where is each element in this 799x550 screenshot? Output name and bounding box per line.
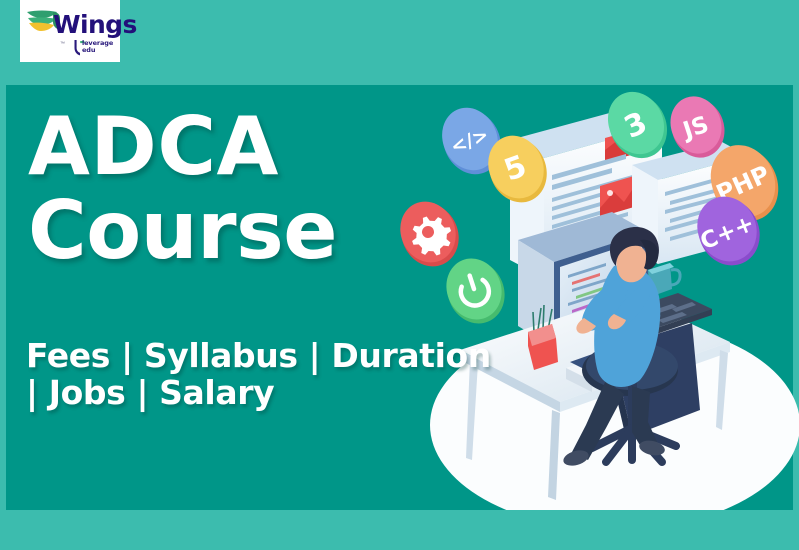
subheadline-line-2: | Jobs | Salary <box>26 375 491 412</box>
logo-trademark: ™ <box>60 41 65 47</box>
headline-group: ADCA Course <box>28 108 337 271</box>
headline-line-1: ADCA <box>28 108 337 186</box>
subheadline-line-1: Fees | Syllabus | Duration <box>26 338 491 375</box>
logo-tagline-line-2: edu <box>82 47 113 54</box>
headline-line-2: Course <box>28 192 337 270</box>
developer-illustration: </> 5 <box>400 80 799 510</box>
banner-root: Wings ™ leverage edu ADCA Course Fees | … <box>0 0 799 550</box>
subheadline-group: Fees | Syllabus | Duration | Jobs | Sala… <box>26 338 491 412</box>
wings-logo[interactable]: Wings ™ leverage edu <box>20 0 120 62</box>
logo-tagline: leverage edu <box>82 40 113 55</box>
logo-wordmark: Wings <box>53 12 137 37</box>
illustration-svg: </> 5 <box>400 80 799 510</box>
power-badge[interactable] <box>437 250 514 332</box>
